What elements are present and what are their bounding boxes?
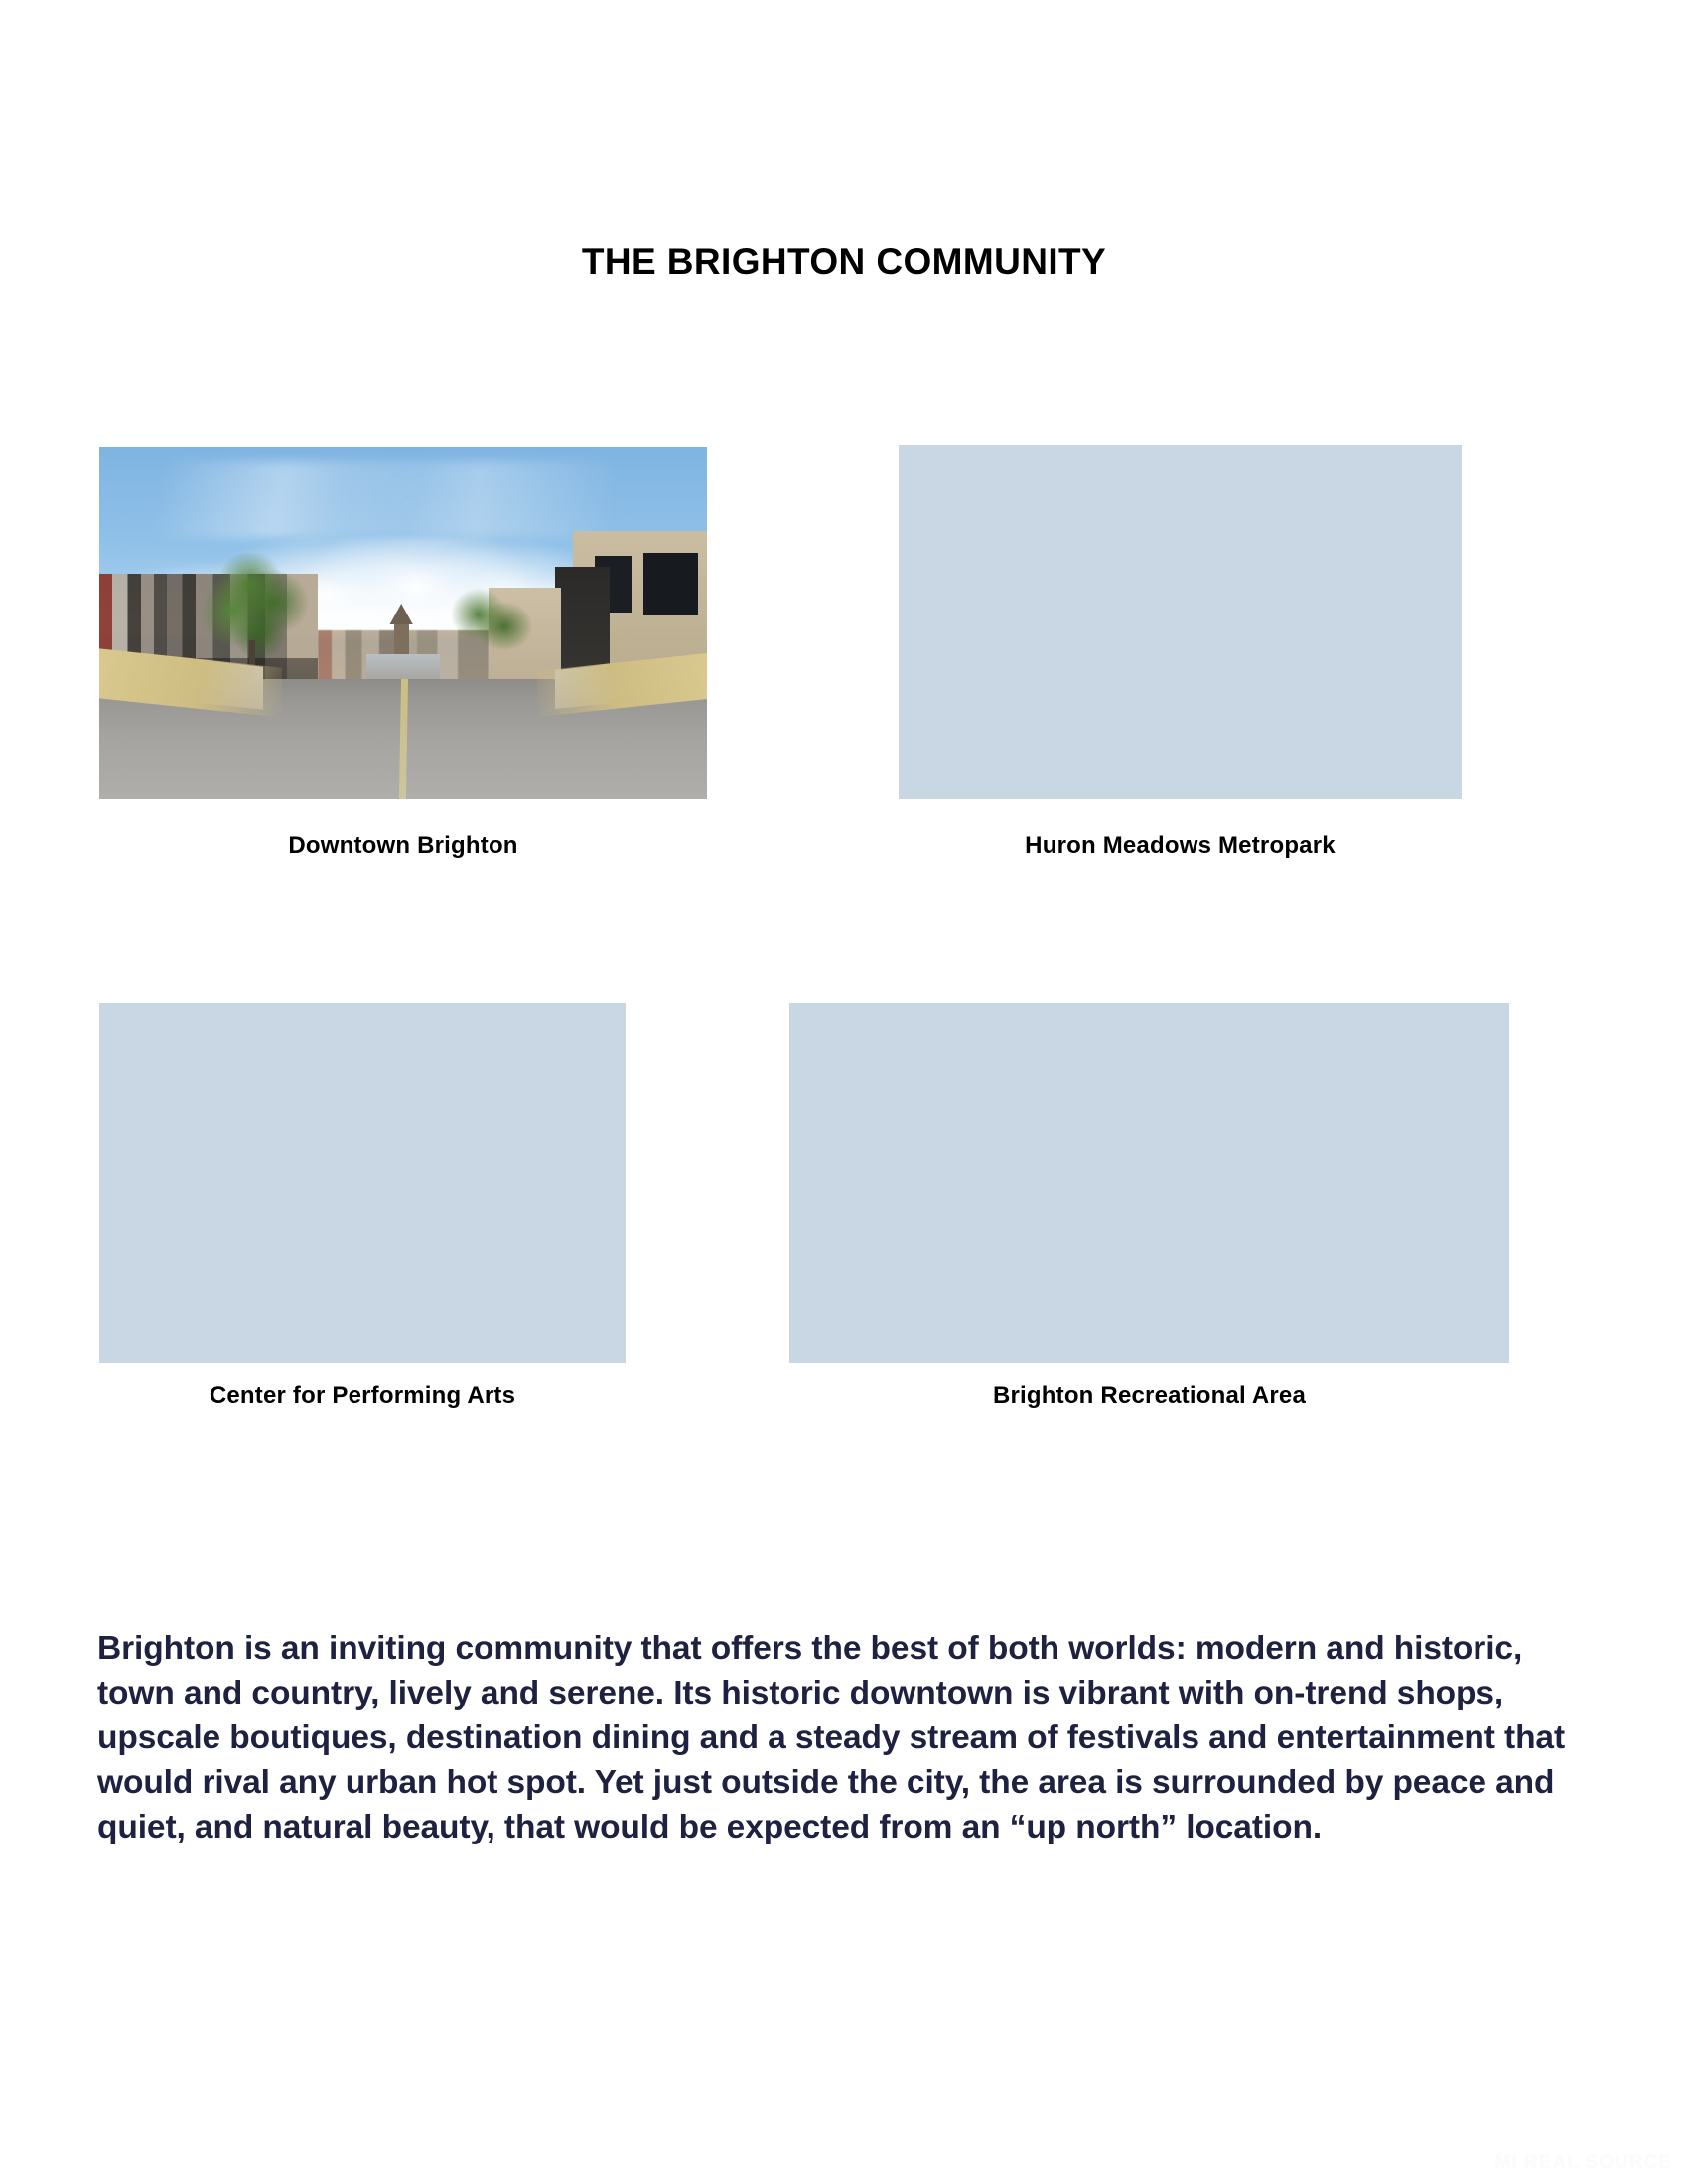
street-tree-left [197, 553, 318, 666]
right-building-window [643, 553, 698, 616]
clock-tower [394, 623, 409, 659]
scene-recreational-area [789, 1003, 1509, 1363]
scene-lake-metropark [899, 445, 1462, 799]
photo-caption-brighton-recreational-area: Brighton Recreational Area [789, 1382, 1509, 1410]
scene-downtown-street [99, 447, 707, 799]
photo-downtown-brighton [99, 447, 707, 799]
page-title: THE BRIGHTON COMMUNITY [0, 241, 1688, 283]
photo-caption-huron-meadows-metropark: Huron Meadows Metropark [899, 832, 1462, 860]
photo-caption-downtown-brighton: Downtown Brighton [99, 832, 707, 860]
scene-performing-arts-center [99, 1003, 626, 1363]
photo-brighton-recreational-area [789, 1003, 1509, 1363]
document-page: THE BRIGHTON COMMUNITY [0, 0, 1688, 2184]
photo-huron-meadows-metropark [899, 445, 1462, 799]
watermark: MI REAL SOURCE [1495, 2152, 1672, 2174]
photo-center-for-performing-arts [99, 1003, 626, 1363]
community-description-paragraph: Brighton is an inviting community that o… [97, 1626, 1567, 1849]
cloud-wisp [99, 461, 707, 538]
street-tree-right [512, 560, 622, 658]
photo-caption-center-for-performing-arts: Center for Performing Arts [99, 1382, 626, 1410]
street-vanishing-point [366, 654, 439, 679]
